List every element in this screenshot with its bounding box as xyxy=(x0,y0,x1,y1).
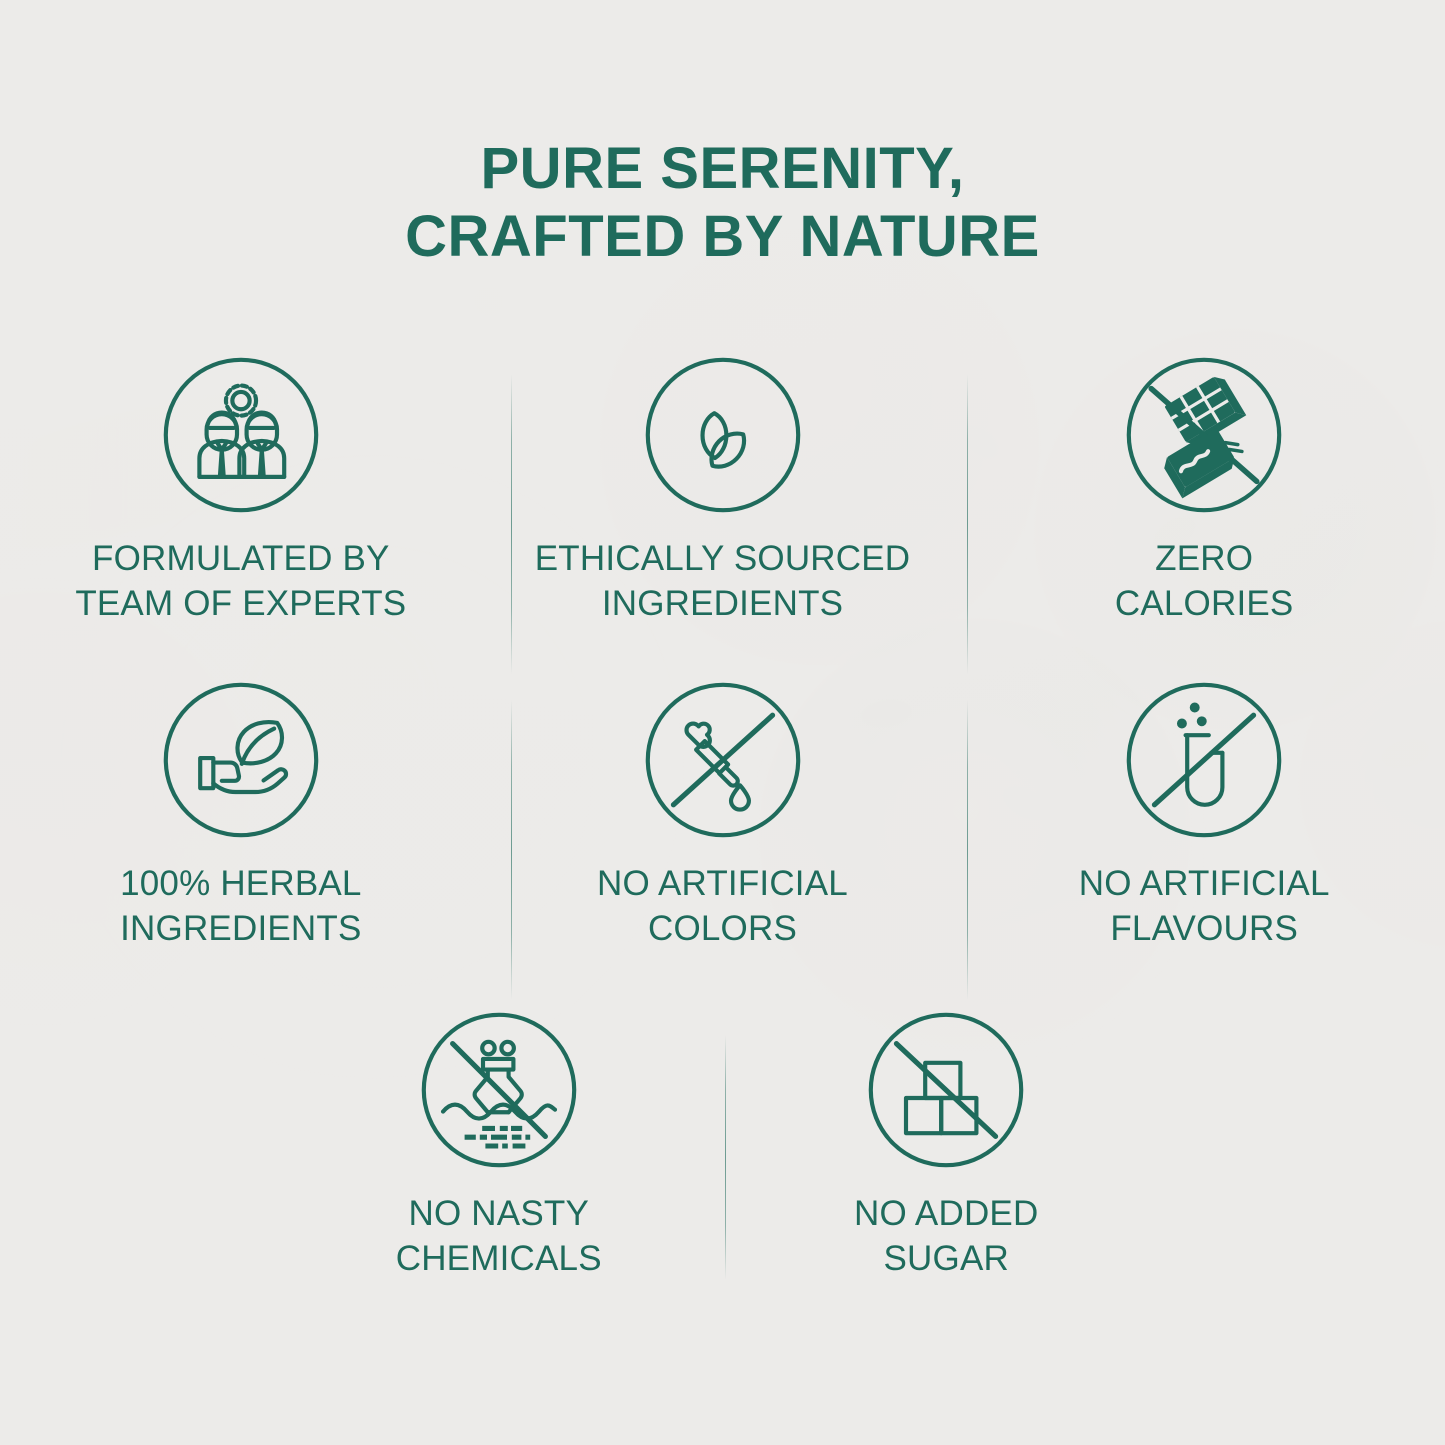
column-divider-row2-right xyxy=(967,700,968,1000)
benefit-label: NO ARTIFICIAL COLORS xyxy=(597,862,848,952)
no-dropper-icon xyxy=(643,680,803,840)
benefit-zero-calories: ZERO CALORIES xyxy=(963,355,1445,627)
benefit-100-percent-herbal-ingredients: 100% HERBAL INGREDIENTS xyxy=(0,680,482,952)
benefit-no-nasty-chemicals: NO NASTY CHEMICALS xyxy=(275,1010,723,1282)
no-chemicals-icon xyxy=(419,1010,579,1170)
benefit-no-artificial-colors: NO ARTIFICIAL COLORS xyxy=(482,680,964,952)
column-divider-row1-left xyxy=(511,374,512,674)
benefit-formulated-by-team-of-experts: FORMULATED BY TEAM OF EXPERTS xyxy=(0,355,482,627)
page-title-line-1: PURE SERENITY, xyxy=(0,135,1445,203)
page-title: PURE SERENITY, CRAFTED BY NATURE xyxy=(0,135,1445,272)
benefit-ethically-sourced-ingredients: ETHICALLY SOURCED INGREDIENTS xyxy=(482,355,964,627)
benefit-no-added-sugar: NO ADDED SUGAR xyxy=(723,1010,1171,1282)
benefit-label: 100% HERBAL INGREDIENTS xyxy=(120,862,362,952)
benefits-row-2: 100% HERBAL INGREDIENTS xyxy=(0,680,1445,952)
no-flask-bubbles-icon xyxy=(1124,680,1284,840)
benefit-label: ZERO CALORIES xyxy=(1115,537,1294,627)
column-divider-row1-right xyxy=(967,374,968,674)
benefits-row-3: NO NASTY CHEMICALS NO ADDED SUGAR xyxy=(275,1010,1170,1282)
benefit-label: FORMULATED BY TEAM OF EXPERTS xyxy=(75,537,406,627)
team-of-experts-icon xyxy=(161,355,321,515)
two-leaves-icon xyxy=(643,355,803,515)
benefit-label: NO NASTY CHEMICALS xyxy=(396,1192,602,1282)
no-sugar-cubes-icon xyxy=(866,1010,1026,1170)
benefit-label: ETHICALLY SOURCED INGREDIENTS xyxy=(535,537,911,627)
column-divider-row3 xyxy=(725,1035,726,1280)
benefits-row-1: FORMULATED BY TEAM OF EXPERTS ETHICALLY … xyxy=(0,355,1445,627)
benefit-label: NO ADDED SUGAR xyxy=(854,1192,1038,1282)
column-divider-row2-left xyxy=(511,700,512,1000)
hand-holding-leaf-icon xyxy=(161,680,321,840)
no-chocolate-bar-icon xyxy=(1124,355,1284,515)
benefit-label: NO ARTIFICIAL FLAVOURS xyxy=(1079,862,1330,952)
benefit-no-artificial-flavours: NO ARTIFICIAL FLAVOURS xyxy=(963,680,1445,952)
page-title-line-2: CRAFTED BY NATURE xyxy=(0,203,1445,271)
